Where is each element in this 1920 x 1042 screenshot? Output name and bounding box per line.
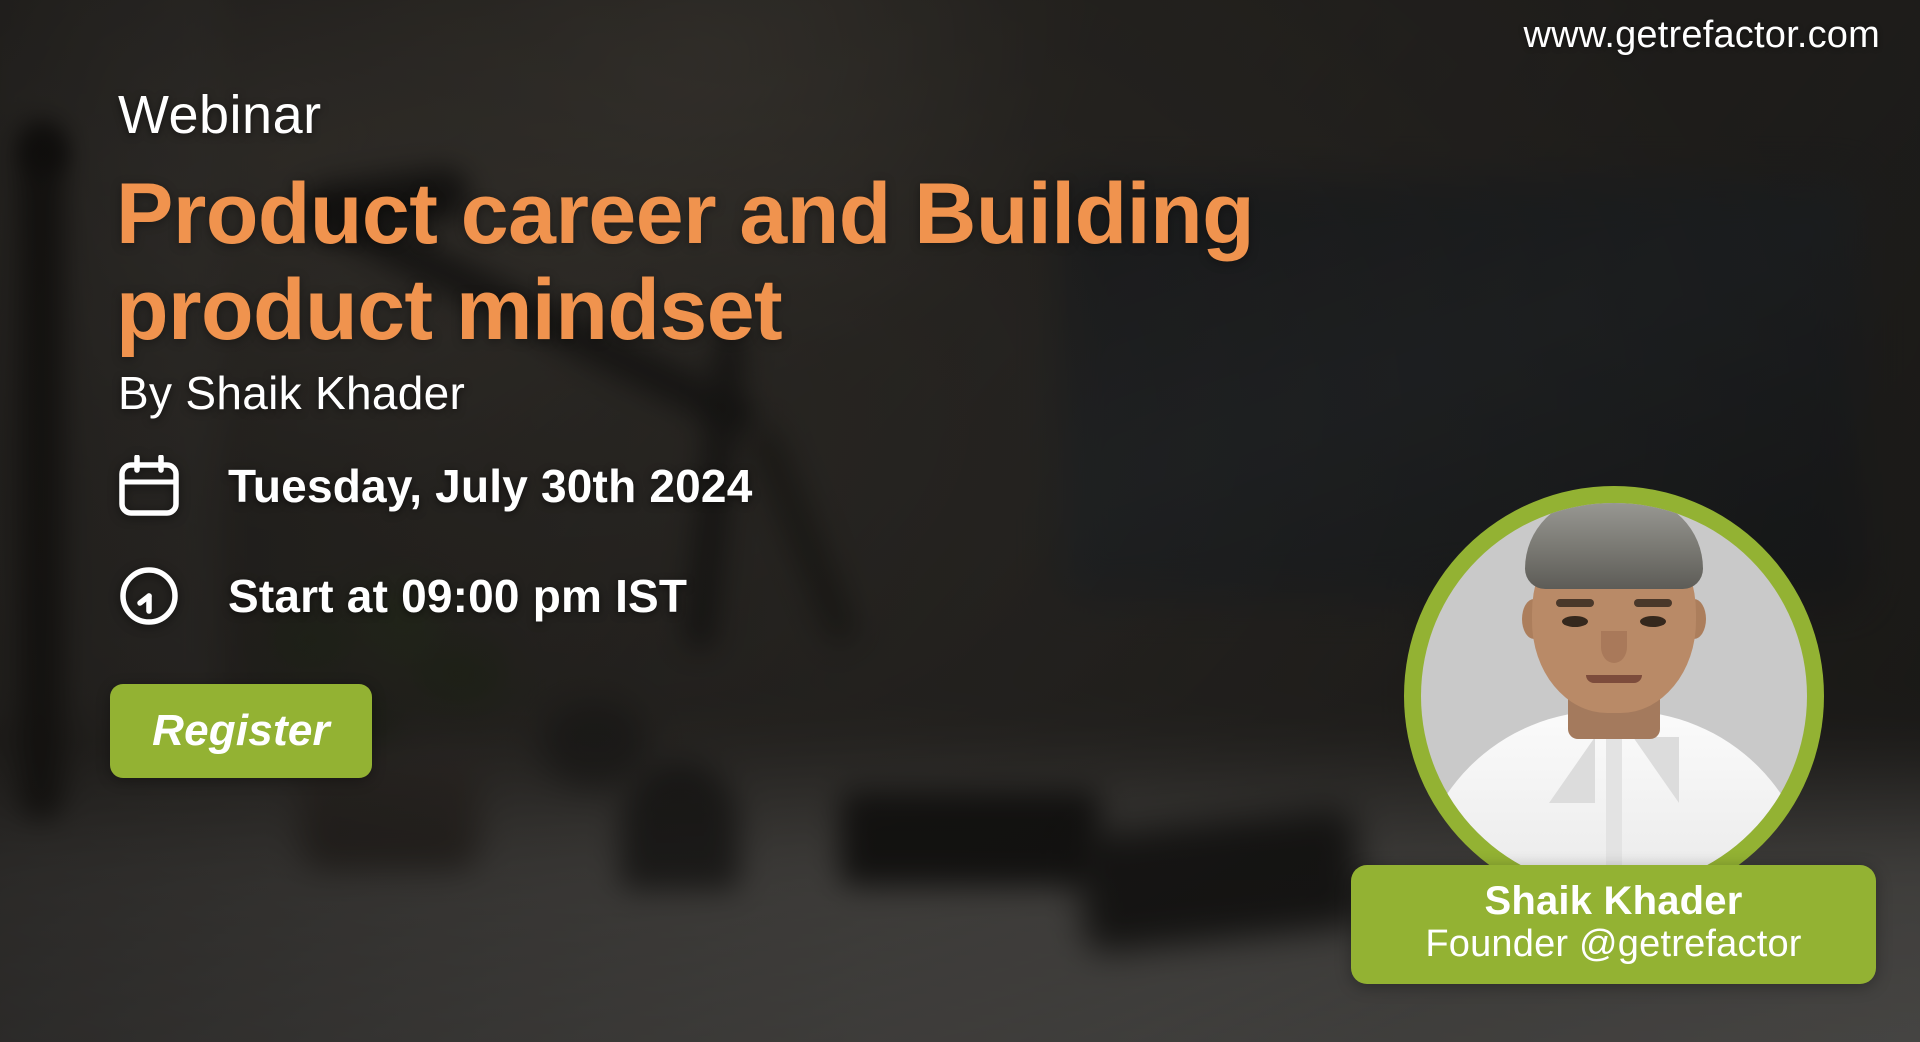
avatar (1404, 486, 1824, 906)
portrait-brow-right (1634, 599, 1672, 607)
speaker-name: Shaik Khader (1369, 879, 1858, 924)
poster-content: www.getrefactor.com Webinar Product care… (0, 0, 1920, 1042)
speaker-portrait (1421, 503, 1807, 889)
webinar-date-text: Tuesday, July 30th 2024 (228, 459, 752, 513)
title-line-2: product mindset (116, 262, 1346, 358)
portrait-hair (1525, 503, 1703, 589)
clock-icon (118, 565, 180, 627)
title-line-1: Product career and Building (116, 166, 1254, 262)
portrait-nose (1601, 631, 1627, 663)
portrait-brow-left (1556, 599, 1594, 607)
byline: By Shaik Khader (118, 366, 465, 420)
webinar-date-row: Tuesday, July 30th 2024 (118, 455, 752, 517)
site-url[interactable]: www.getrefactor.com (1524, 14, 1881, 57)
speaker-role: Founder @getrefactor (1369, 923, 1858, 966)
speaker-name-card: Shaik Khader Founder @getrefactor (1351, 865, 1876, 984)
webinar-time-row: Start at 09:00 pm IST (118, 565, 687, 627)
register-button[interactable]: Register (110, 684, 372, 778)
calendar-icon (118, 455, 180, 517)
webinar-time-text: Start at 09:00 pm IST (228, 569, 687, 623)
portrait-eye-left (1562, 616, 1588, 627)
kicker-label: Webinar (118, 84, 322, 146)
register-button-label: Register (152, 706, 330, 756)
portrait-eye-right (1640, 616, 1666, 627)
page-title: Product career and Building product mind… (116, 166, 1346, 359)
portrait-mouth (1586, 675, 1642, 683)
avatar-photo (1421, 503, 1807, 889)
portrait-collar-right (1633, 737, 1679, 803)
portrait-collar-left (1549, 737, 1595, 803)
webinar-poster: www.getrefactor.com Webinar Product care… (0, 0, 1920, 1042)
